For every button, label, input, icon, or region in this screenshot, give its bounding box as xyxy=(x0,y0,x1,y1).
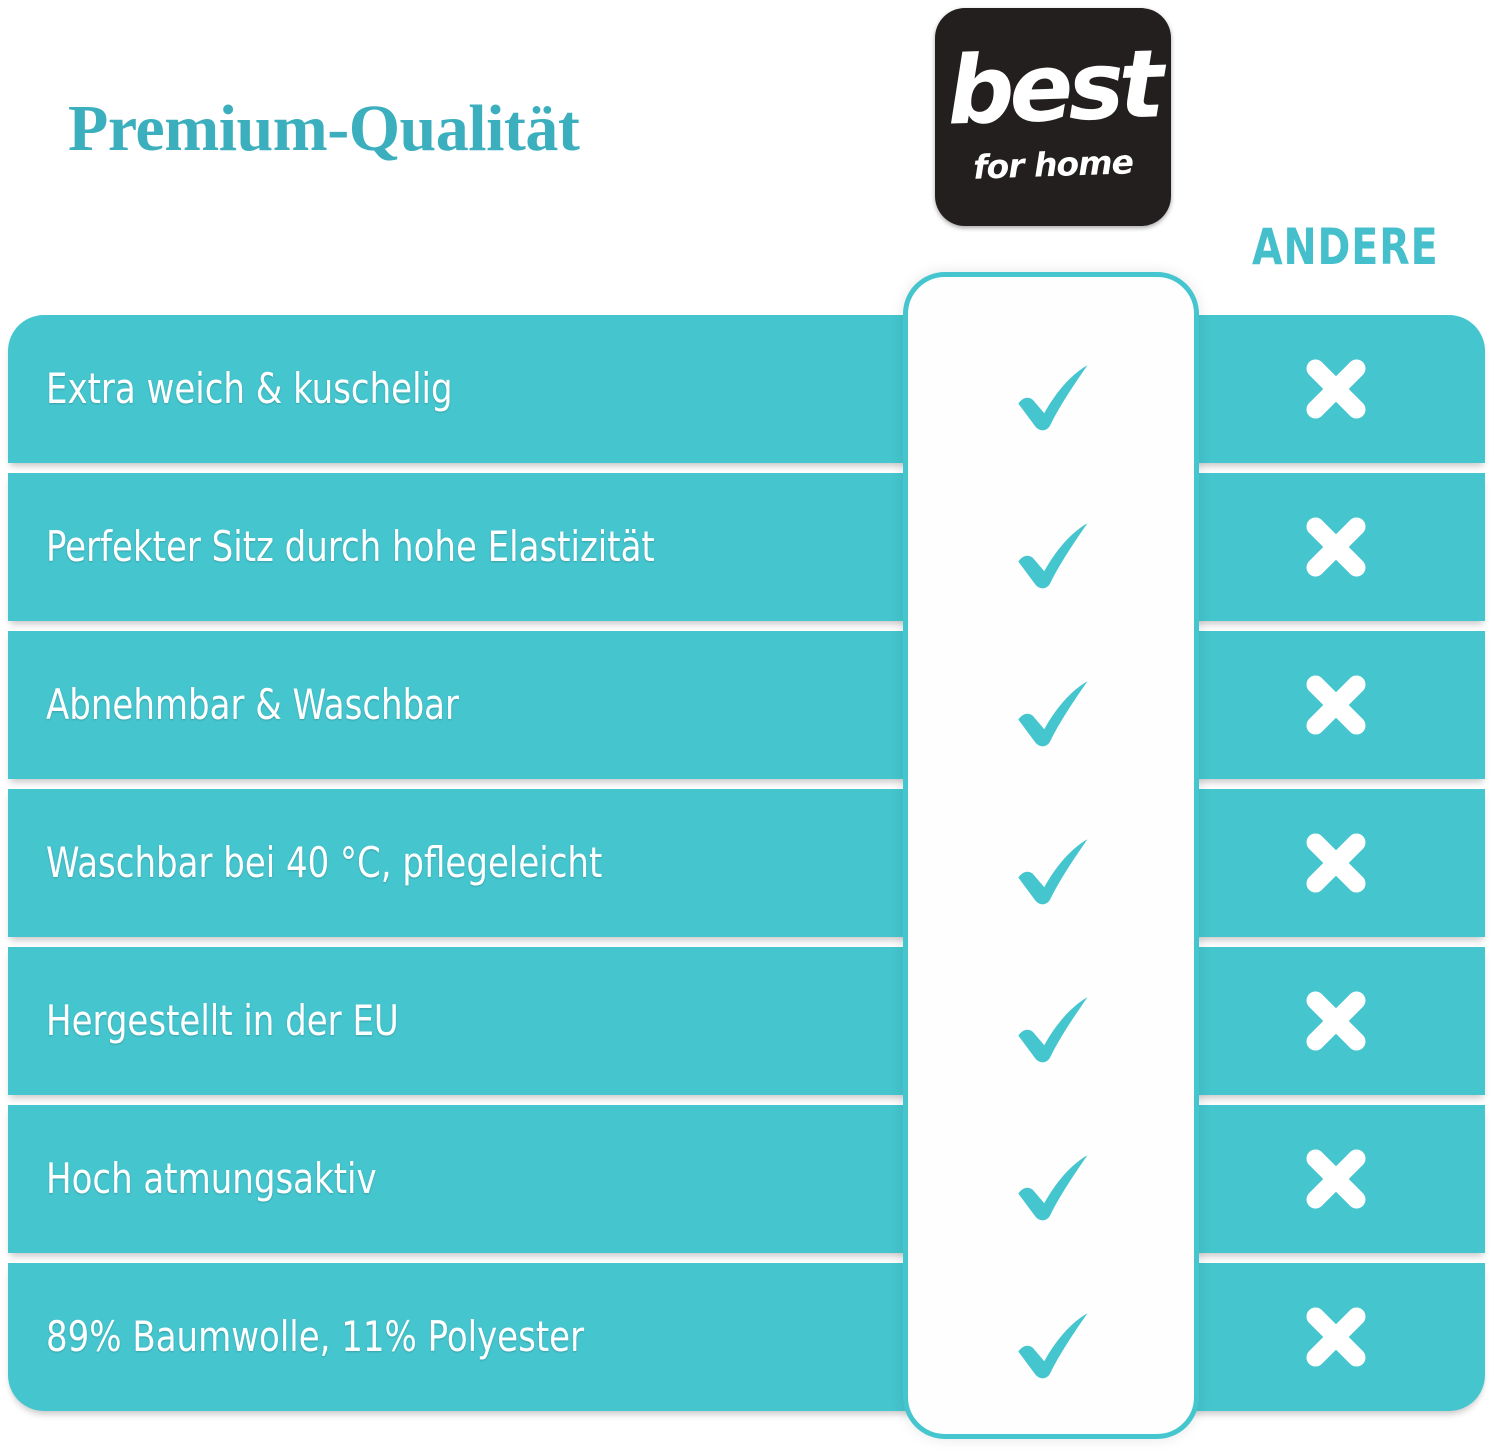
check-icon xyxy=(1003,1136,1099,1232)
cross-icon xyxy=(1299,668,1373,742)
table-row: Hergestellt in der EU xyxy=(8,947,1485,1095)
check-icon xyxy=(1003,662,1099,758)
table-row: Perfekter Sitz durch hohe Elastizität xyxy=(8,473,1485,621)
check-icon xyxy=(1003,1294,1099,1390)
table-row: Hoch atmungsaktiv xyxy=(8,1105,1485,1253)
feature-label: Abnehmbar & Waschbar xyxy=(46,682,459,728)
cross-icon xyxy=(1299,1142,1373,1216)
feature-label: Extra weich & kuschelig xyxy=(46,366,453,412)
logo-secondary-text: for home xyxy=(935,144,1171,185)
page-title: Premium-Qualität xyxy=(68,96,579,162)
brand-check-cell xyxy=(908,320,1194,468)
brand-column xyxy=(903,272,1199,1439)
cross-icon xyxy=(1299,352,1373,426)
cross-icon xyxy=(1299,1300,1373,1374)
feature-label: Waschbar bei 40 °C, pflegeleicht xyxy=(46,840,602,886)
feature-rows: Extra weich & kuscheligPerfekter Sitz du… xyxy=(8,315,1485,1422)
brand-check-cell xyxy=(908,952,1194,1100)
cross-icon xyxy=(1299,984,1373,1058)
brand-check-cell xyxy=(908,1110,1194,1258)
column-header-andere: ANDERE xyxy=(1252,222,1439,272)
cross-icon xyxy=(1299,510,1373,584)
brand-check-cell xyxy=(908,1268,1194,1416)
table-row: Abnehmbar & Waschbar xyxy=(8,631,1485,779)
table-row: Extra weich & kuschelig xyxy=(8,315,1485,463)
check-icon xyxy=(1003,820,1099,916)
table-row: Waschbar bei 40 °C, pflegeleicht xyxy=(8,789,1485,937)
brand-logo: best for home xyxy=(935,8,1171,226)
check-icon xyxy=(1003,504,1099,600)
brand-check-cell xyxy=(908,636,1194,784)
feature-label: Hoch atmungsaktiv xyxy=(46,1156,377,1202)
logo-primary-text: best xyxy=(935,38,1171,140)
feature-label: 89% Baumwolle, 11% Polyester xyxy=(46,1314,584,1360)
brand-check-cell xyxy=(908,794,1194,942)
brand-check-list xyxy=(908,320,1194,1427)
table-row: 89% Baumwolle, 11% Polyester xyxy=(8,1263,1485,1411)
brand-check-cell xyxy=(908,478,1194,626)
cross-icon xyxy=(1299,826,1373,900)
feature-label: Hergestellt in der EU xyxy=(46,998,399,1044)
check-icon xyxy=(1003,346,1099,442)
feature-label: Perfekter Sitz durch hohe Elastizität xyxy=(46,524,655,570)
check-icon xyxy=(1003,978,1099,1074)
